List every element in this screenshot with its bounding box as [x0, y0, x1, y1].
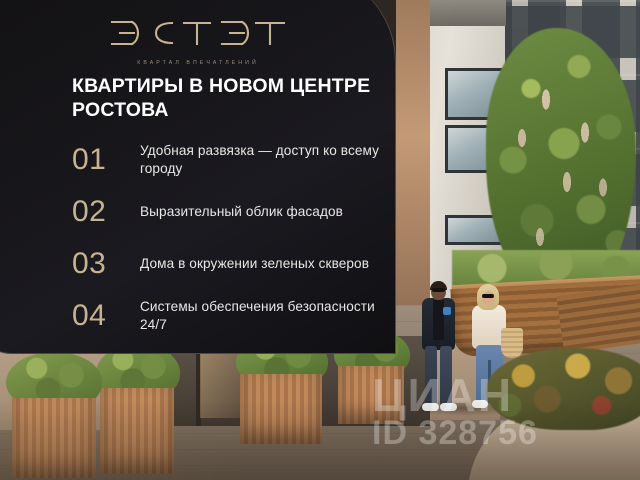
- feature-text: Удобная развязка — доступ ко всему город…: [140, 142, 392, 178]
- feature-number: 01: [72, 145, 140, 175]
- logo-subtitle: КВАРТАЛ ВПЕЧАТЛЕНИЙ: [0, 60, 396, 66]
- page-title: КВАРТИРЫ В НОВОМ ЦЕНТРЕ РОСТОВА: [72, 74, 382, 122]
- feature-list: 01 Удобная развязка — доступ ко всему го…: [72, 134, 392, 342]
- list-item: 04 Системы обеспечения безопасности 24/7: [72, 290, 392, 342]
- logo-mark-icon: [110, 18, 286, 53]
- promo-panel-content: КВАРТАЛ ВПЕЧАТЛЕНИЙ КВАРТИРЫ В НОВОМ ЦЕН…: [0, 0, 396, 354]
- listing-image: ЦИАН ID 328756: [0, 0, 640, 480]
- list-item: 03 Дома в окружении зеленых скверов: [72, 238, 392, 290]
- list-item: 01 Удобная развязка — доступ ко всему го…: [72, 134, 392, 186]
- feature-number: 03: [72, 249, 140, 279]
- feature-text: Выразительный облик фасадов: [140, 203, 343, 221]
- feature-number: 04: [72, 301, 140, 331]
- feature-text: Дома в окружении зеленых скверов: [140, 255, 369, 273]
- feature-number: 02: [72, 197, 140, 227]
- brand-logo: КВАРТАЛ ВПЕЧАТЛЕНИЙ: [0, 18, 396, 66]
- promo-panel: КВАРТАЛ ВПЕЧАТЛЕНИЙ КВАРТИРЫ В НОВОМ ЦЕН…: [0, 0, 396, 354]
- feature-text: Системы обеспечения безопасности 24/7: [140, 298, 392, 334]
- list-item: 02 Выразительный облик фасадов: [72, 186, 392, 238]
